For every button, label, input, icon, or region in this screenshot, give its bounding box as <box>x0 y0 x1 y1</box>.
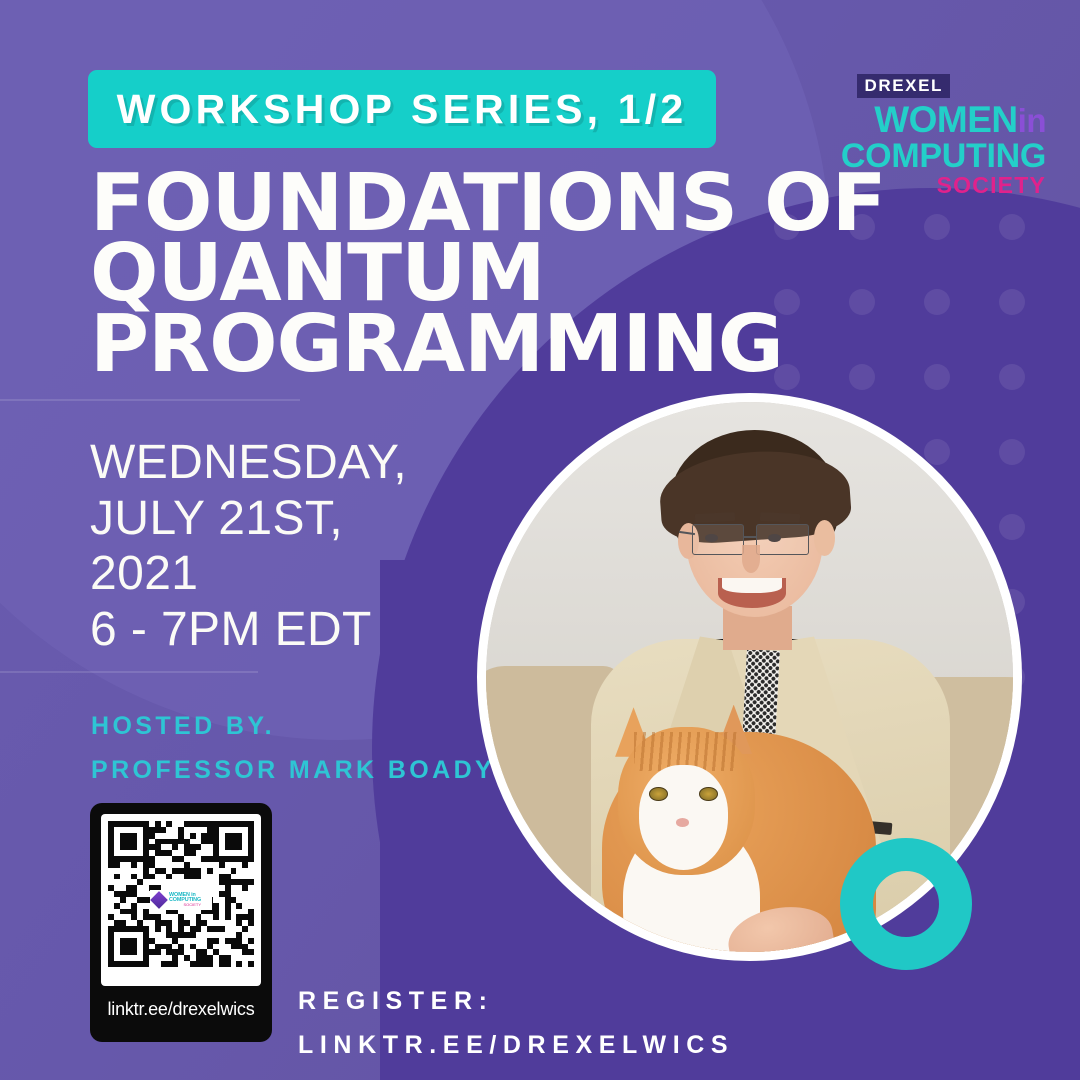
qr-logo-diamond-icon <box>150 891 168 909</box>
photo-nose <box>742 545 760 573</box>
workshop-series-label: WORKSHOP SERIES, 1/2 <box>117 86 688 133</box>
hosted-by-speaker: PROFESSOR MARK BOADY <box>91 749 495 793</box>
dot-decoration <box>924 364 950 390</box>
photo-teeth <box>722 578 782 593</box>
hosted-by-block: HOSTED BY. PROFESSOR MARK BOADY <box>91 705 495 793</box>
event-time: 6 - 7PM EDT <box>90 602 407 658</box>
photo-brow-right <box>760 512 800 523</box>
qr-embedded-logo: WOMEN in COMPUTING SOCIETY <box>150 890 212 910</box>
photo-glasses-right <box>756 524 809 555</box>
teal-donut-decoration <box>840 838 972 970</box>
qr-code-card[interactable]: WOMEN in COMPUTING SOCIETY linktr.ee/dre… <box>90 803 272 1042</box>
photo-smile <box>718 578 787 608</box>
dot-decoration <box>849 289 875 315</box>
qr-logo-text: WOMEN in COMPUTING SOCIETY <box>169 893 201 908</box>
event-year: 2021 <box>90 546 407 602</box>
dot-decoration <box>924 289 950 315</box>
qr-logo-line-3: SOCIETY <box>169 903 201 907</box>
photo-cat-eye-right <box>699 787 718 801</box>
photo-glasses-left <box>692 524 745 555</box>
poster-canvas: WORKSHOP SERIES, 1/2 DREXEL WOMENin COMP… <box>0 0 1080 1080</box>
divider-rule-bottom <box>0 671 258 673</box>
workshop-series-banner: WORKSHOP SERIES, 1/2 <box>88 70 716 148</box>
hosted-by-label: HOSTED BY. <box>91 705 495 749</box>
divider-rule-top <box>0 399 300 401</box>
photo-glasses-bridge <box>744 536 756 538</box>
page-title-line-3: PROGRAMMING <box>90 309 835 379</box>
logo-in-word: in <box>1018 102 1046 139</box>
event-date: JULY 21ST, <box>90 491 407 547</box>
logo-women-word: WOMEN <box>874 99 1017 140</box>
event-datetime: WEDNESDAY, JULY 21ST, 2021 6 - 7PM EDT <box>90 435 407 658</box>
dot-decoration <box>999 289 1025 315</box>
photo-ear-right <box>814 520 835 556</box>
dot-decoration <box>849 364 875 390</box>
qr-code-image[interactable]: WOMEN in COMPUTING SOCIETY <box>101 814 261 986</box>
logo-drexel-badge: DREXEL <box>857 74 950 98</box>
dot-decoration <box>999 214 1025 240</box>
page-title: FOUNDATIONS OF QUANTUM PROGRAMMING <box>90 168 835 379</box>
logo-women-in-line: WOMENin <box>832 101 1046 138</box>
dot-decoration <box>924 214 950 240</box>
event-day: WEDNESDAY, <box>90 435 407 491</box>
register-label: REGISTER: <box>298 980 734 1024</box>
register-block: REGISTER: LINKTR.EE/DREXELWICS <box>298 980 734 1067</box>
register-url[interactable]: LINKTR.EE/DREXELWICS <box>298 1024 734 1068</box>
qr-caption: linktr.ee/drexelwics <box>101 999 261 1020</box>
dot-decoration <box>999 364 1025 390</box>
